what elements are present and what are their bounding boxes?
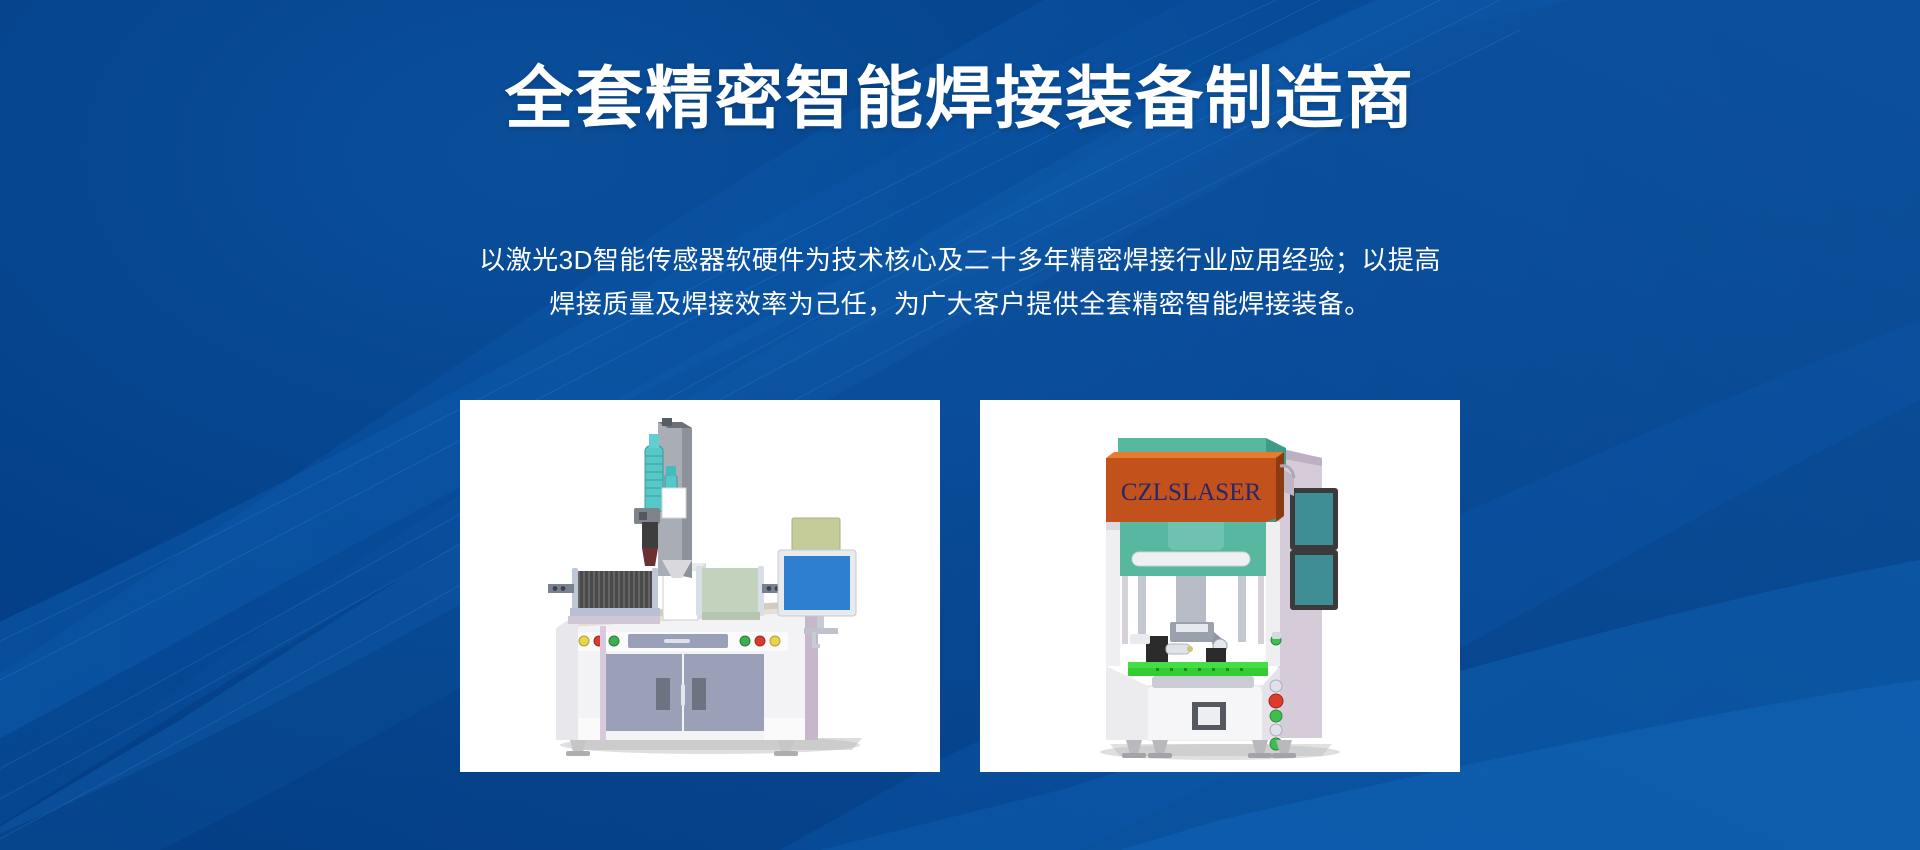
- machine-brand-label: CZLSLASER: [1121, 479, 1262, 506]
- product-illustration-1: [460, 400, 940, 772]
- page-title: 全套精密智能焊接装备制造商: [0, 60, 1920, 138]
- subtitle-line-2: 焊接质量及焊接效率为己任，为广大客户提供全套精密智能焊接装备。: [360, 282, 1560, 326]
- subtitle-block: 以激光3D智能传感器软硬件为技术核心及二十多年精密焊接行业应用经验；以提高 焊接…: [360, 238, 1560, 326]
- hero-banner: 全套精密智能焊接装备制造商 以激光3D智能传感器软硬件为技术核心及二十多年精密焊…: [0, 0, 1920, 850]
- product-image-row: CZLSLASER: [460, 400, 1460, 772]
- product-card-1[interactable]: [460, 400, 940, 772]
- product-card-2[interactable]: CZLSLASER: [980, 400, 1460, 772]
- subtitle-line-1: 以激光3D智能传感器软硬件为技术核心及二十多年精密焊接行业应用经验；以提高: [360, 238, 1560, 282]
- product-illustration-2: CZLSLASER: [980, 400, 1460, 772]
